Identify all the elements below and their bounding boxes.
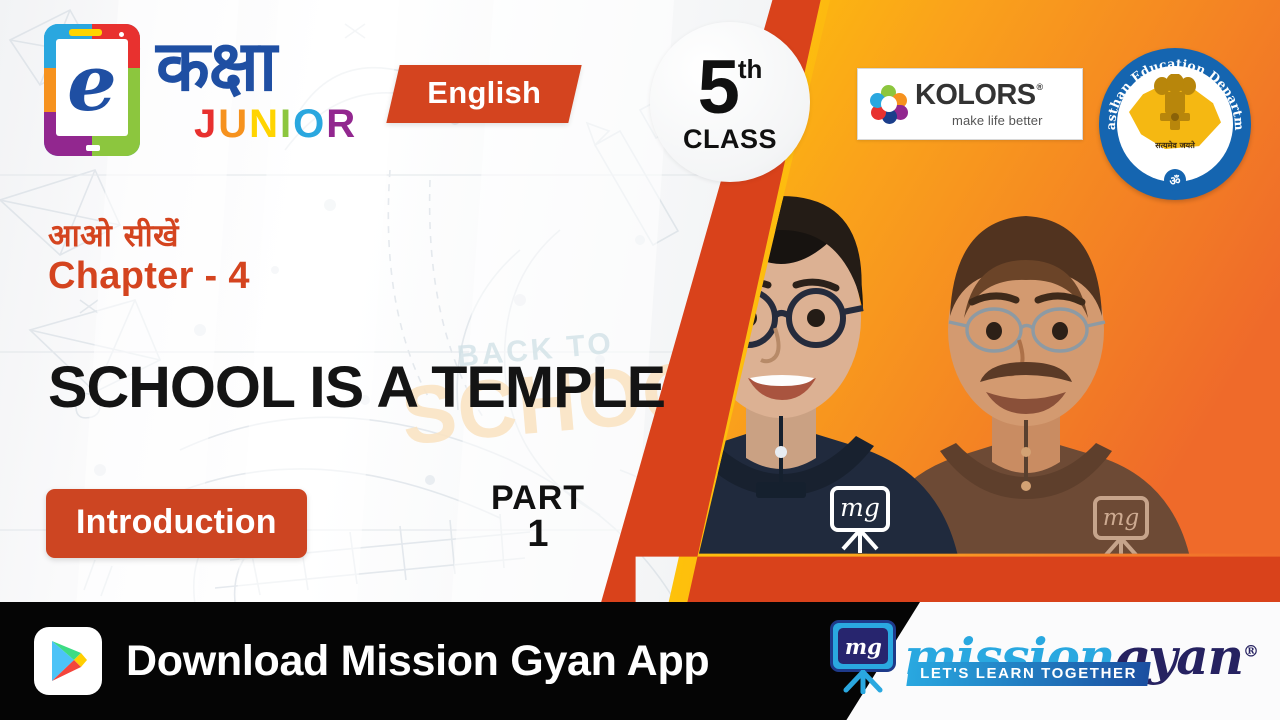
- e-letter: e: [67, 53, 117, 115]
- sponsor-logo-kolors: KOLORS ® make life better: [857, 68, 1083, 140]
- chapter-label: Chapter - 4: [48, 255, 250, 298]
- junior-letter-r: R: [326, 102, 357, 147]
- junior-letter-o: O: [293, 102, 326, 147]
- svg-text:mg: mg: [1103, 505, 1140, 531]
- kolors-ring-icon: [870, 85, 908, 123]
- class-badge: 5 th CLASS: [650, 22, 810, 182]
- ekaksha-logo: e कक्षा JUNIOR: [44, 24, 357, 156]
- class-number: 5: [698, 50, 738, 126]
- junior-letter-i: I: [280, 102, 293, 147]
- footer-cta-bar[interactable]: Download Mission Gyan App: [0, 602, 920, 720]
- kolors-name: KOLORS: [915, 81, 1035, 110]
- lesson-title: SCHOOL IS A TEMPLE: [48, 354, 665, 421]
- seal-arc-label: Rajasthan Education Department: [1099, 48, 1247, 131]
- kolors-registered: ®: [1036, 83, 1042, 92]
- class-number-row: 5 th: [698, 50, 763, 126]
- junior-letter-u: U: [218, 102, 249, 147]
- class-word: CLASS: [683, 124, 777, 155]
- junior-letter-j: J: [194, 102, 218, 147]
- missiongyan-tagline: LET'S LEARN TOGETHER: [907, 662, 1151, 686]
- part-number: 1: [483, 515, 593, 555]
- learn-label: आओ सीखें: [48, 214, 179, 256]
- thumbnail-canvas: BACK TO SCHOOL: [0, 0, 1280, 720]
- topic-badge: Introduction: [46, 489, 307, 558]
- junior-letter-n: N: [249, 102, 280, 147]
- seal-bottom-badge: ॐ: [1164, 169, 1186, 191]
- brand-wordmark: कक्षा JUNIOR: [156, 33, 357, 147]
- part-indicator: PART 1: [483, 481, 593, 555]
- topic-label: Introduction: [76, 503, 277, 541]
- part-word: PART: [483, 481, 593, 515]
- brand-name-hindi: कक्षा: [156, 33, 357, 100]
- subject-badge: English: [386, 65, 581, 123]
- logo-registered: ®: [1243, 642, 1258, 661]
- subject-label: English: [427, 75, 541, 111]
- tablet-screen: e: [56, 39, 129, 137]
- footer-banner: Download Mission Gyan App mg missiongyan…: [0, 602, 1280, 720]
- tablet-camera-icon: [119, 32, 124, 37]
- mg-board-legs: [830, 670, 896, 694]
- missiongyan-tagline-label: LET'S LEARN TOGETHER: [920, 665, 1137, 682]
- rajasthan-education-seal: सत्यमेव जयते Rajasthan Education Departm…: [1099, 48, 1251, 200]
- brand-subname: JUNIOR: [194, 102, 357, 147]
- tablet-speaker: [69, 29, 102, 36]
- tablet-icon: e: [44, 24, 140, 156]
- kolors-tagline: make life better: [915, 113, 1043, 128]
- class-ordinal: th: [738, 56, 763, 82]
- missiongyan-logo: mg missiongyan® LET'S LEARN TOGETHER: [830, 620, 1258, 694]
- kolors-name-row: KOLORS ®: [915, 81, 1043, 110]
- tablet-home-button: [86, 145, 99, 150]
- download-cta-label: Download Mission Gyan App: [126, 637, 709, 686]
- mg-board-frame: mg: [830, 620, 896, 672]
- mg-monogram: mg: [838, 628, 888, 664]
- mg-board-icon: mg: [830, 620, 896, 694]
- svg-text:Rajasthan Education Department: Rajasthan Education Department: [1099, 48, 1247, 131]
- kolors-wordmark: KOLORS ® make life better: [915, 81, 1043, 128]
- tablet-frame: e: [44, 24, 140, 156]
- google-play-icon[interactable]: [34, 627, 102, 695]
- svg-text:mg: mg: [840, 493, 880, 522]
